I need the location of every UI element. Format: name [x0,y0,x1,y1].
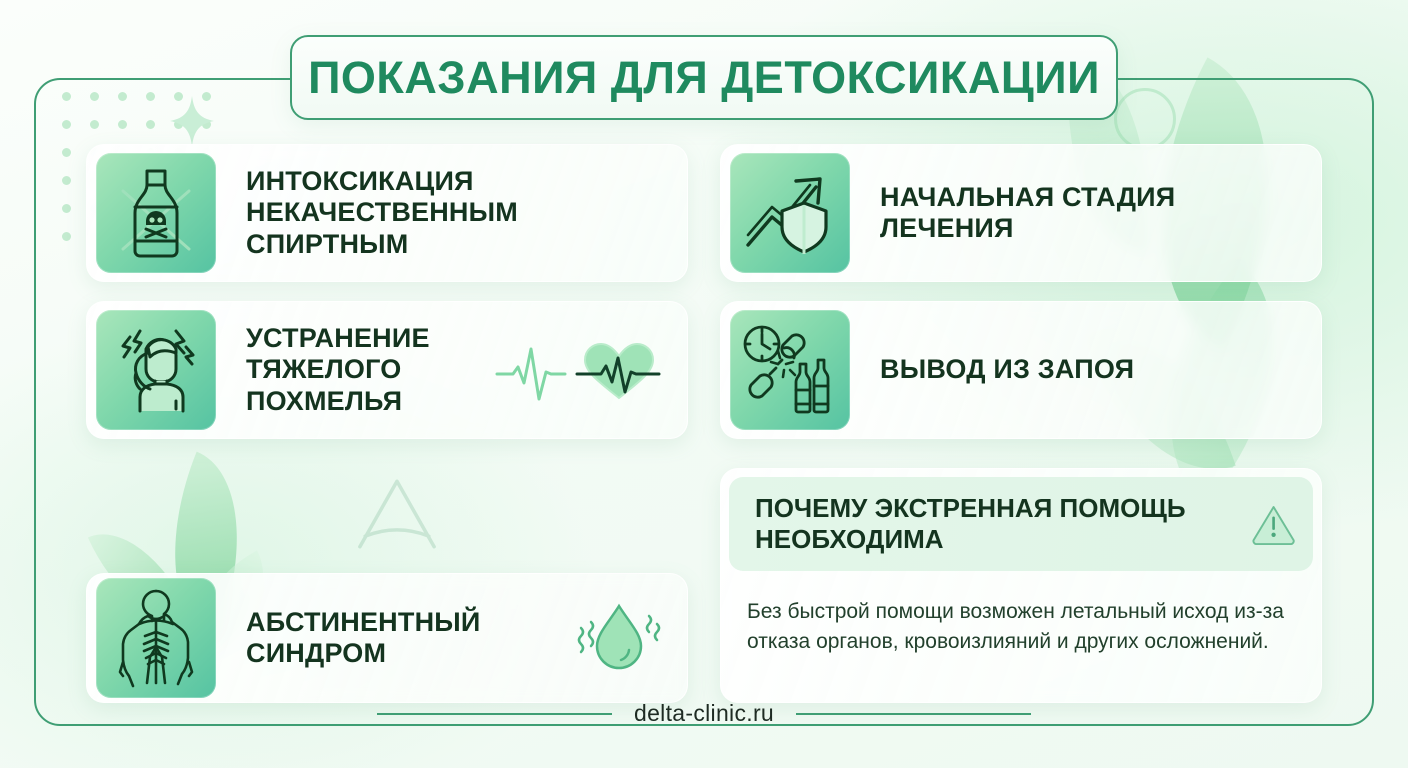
headache-person-icon [110,327,202,413]
page-title-box: ПОКАЗАНИЯ ДЛЯ ДЕТОКСИКАЦИИ [290,35,1118,120]
sweat-drop-icon [565,598,661,678]
growth-arrow-shield-icon [744,169,836,257]
infographic-canvas: ПОКАЗАНИЯ ДЛЯ ДЕТОКСИКАЦИИ [0,0,1408,768]
nervous-system-icon [117,588,195,688]
emergency-note-body: Без быстрой помощи возможен летальный ис… [721,571,1321,657]
card-withdrawal[interactable]: АБСТИНЕНТНЫЙ СИНДРОМ [86,573,688,703]
icon-tile [96,153,216,273]
card-label: УСТРАНЕНИЕ ТЯЖЕЛОГО ПОХМЕЛЬЯ [216,323,495,417]
card-hangover[interactable]: УСТРАНЕНИЕ ТЯЖЕЛОГО ПОХМЕЛЬЯ [86,301,688,439]
cards-container: ИНТОКСИКАЦИЯ НЕКАЧЕСТВЕННЫМ СПИРТНЫМ [34,78,1374,726]
card-label: ИНТОКСИКАЦИЯ НЕКАЧЕСТВЕННЫМ СПИРТНЫМ [216,166,687,260]
emergency-note-title: ПОЧЕМУ ЭКСТРЕННАЯ ПОМОЩЬ НЕОБХОДИМА [755,493,1238,554]
emergency-note-header: ПОЧЕМУ ЭКСТРЕННАЯ ПОМОЩЬ НЕОБХОДИМА [729,477,1313,571]
footer-url[interactable]: delta-clinic.ru [634,700,774,727]
poison-bottle-icon [119,167,193,259]
warning-triangle-icon [1252,498,1295,550]
page-title: ПОКАЗАНИЯ ДЛЯ ДЕТОКСИКАЦИИ [308,52,1100,104]
card-label: АБСТИНЕНТНЫЙ СИНДРОМ [216,607,565,670]
card-label: ВЫВОД ИЗ ЗАПОЯ [850,354,1321,385]
card-decoration [495,336,687,404]
icon-tile [96,310,216,430]
clock-broken-chain-bottles-icon [740,324,840,416]
card-decoration [565,598,687,678]
emergency-note-card: ПОЧЕМУ ЭКСТРЕННАЯ ПОМОЩЬ НЕОБХОДИМА Без … [720,468,1322,703]
footer-rule-left [377,713,612,715]
icon-tile [96,578,216,698]
footer: delta-clinic.ru [34,700,1374,727]
card-binge-withdrawal[interactable]: ВЫВОД ИЗ ЗАПОЯ [720,301,1322,439]
card-label: НАЧАЛЬНАЯ СТАДИЯ ЛЕЧЕНИЯ [850,182,1321,245]
card-early-treatment[interactable]: НАЧАЛЬНАЯ СТАДИЯ ЛЕЧЕНИЯ [720,144,1322,282]
footer-rule-right [796,713,1031,715]
icon-tile [730,310,850,430]
card-intoxication[interactable]: ИНТОКСИКАЦИЯ НЕКАЧЕСТВЕННЫМ СПИРТНЫМ [86,144,688,282]
icon-tile [730,153,850,273]
ecg-heart-icon [495,336,661,404]
